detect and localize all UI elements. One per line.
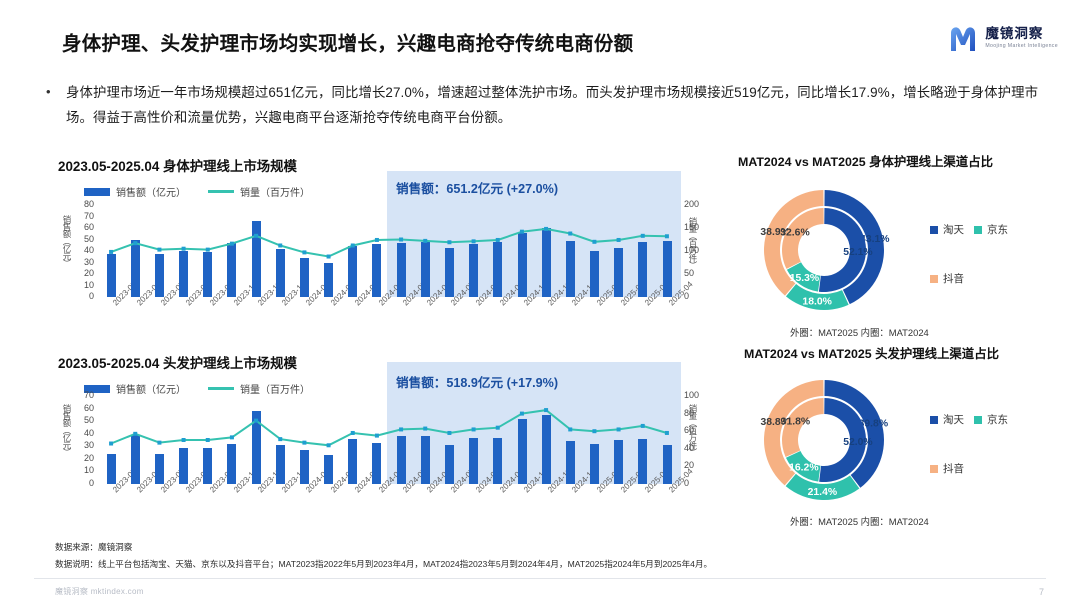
slide: 身体护理、头发护理市场均实现增长，兴趣电商抢夺传统电商份额 魔镜洞察 Mooji… <box>0 0 1080 607</box>
brand-logo: 魔镜洞察 Moojing Market Intelligence <box>948 24 1058 52</box>
line-marker <box>254 419 258 423</box>
line-marker <box>665 431 669 435</box>
plot-hair-care: 销售额（亿元） 销量（百万件） 706050403020100 10080604… <box>58 396 718 526</box>
legend-item-volume: 销量（百万件） <box>208 184 310 199</box>
donut-title: MAT2024 vs MAT2025 头发护理线上渠道占比 <box>744 344 1064 362</box>
line-marker <box>302 441 306 445</box>
line-series <box>99 396 679 484</box>
y-tick-label: 10 <box>72 465 94 475</box>
line-marker <box>496 238 500 242</box>
chart-annotation: 销售额：518.9亿元 (+17.9%) <box>396 372 558 391</box>
donut-hair-care-channel-share: MAT2024 vs MAT2025 头发护理线上渠道占比 <box>744 344 1064 362</box>
legend-label: 京东 <box>987 412 1008 427</box>
legend-label: 抖音 <box>943 271 964 286</box>
legend-bar-swatch <box>84 188 110 196</box>
legend-label: 销售额（亿元） <box>116 184 186 199</box>
y-tick-label: 10 <box>72 280 94 290</box>
line-marker <box>592 240 596 244</box>
donut-note-1: 外圈：MAT2025 内圈：MAT2024 <box>790 325 929 339</box>
line-marker <box>399 238 403 242</box>
slide-header: 身体护理、头发护理市场均实现增长，兴趣电商抢夺传统电商份额 魔镜洞察 Mooji… <box>0 0 1080 70</box>
donut-title: MAT2024 vs MAT2025 身体护理线上渠道占比 <box>738 152 1058 170</box>
line-marker <box>133 432 137 436</box>
line-marker <box>109 250 113 254</box>
line-marker <box>544 408 548 412</box>
legend-item-jingdong: 京东 <box>974 222 1008 237</box>
legend-item-douyin: 抖音 <box>930 271 1008 286</box>
line-marker <box>399 427 403 431</box>
line-marker <box>568 232 572 236</box>
y2-tick-label: 200 <box>684 199 699 209</box>
line-marker <box>423 239 427 243</box>
donut-legend-1: 淘天 京东 抖音 <box>930 222 1008 286</box>
legend-swatch-jingdong <box>974 226 982 234</box>
line-marker <box>230 242 234 246</box>
logo-m-icon <box>948 24 978 52</box>
line-marker <box>568 427 572 431</box>
y-tick-label: 50 <box>72 234 94 244</box>
donut-segment-label: 21.4% <box>808 487 837 498</box>
y2-tick-label: 40 <box>684 443 694 453</box>
y-tick-label: 20 <box>72 268 94 278</box>
donut-segment-label: 15.3% <box>790 273 819 284</box>
y-tick-label: 60 <box>72 222 94 232</box>
line-path <box>111 229 667 257</box>
line-marker <box>230 435 234 439</box>
y-tick-label: 30 <box>72 440 94 450</box>
summary-bullet: • 身体护理市场近一年市场规模超过651亿元，同比增长27.0%，增速超过整体洗… <box>46 80 1041 130</box>
line-marker <box>327 255 331 259</box>
page-title: 身体护理、头发护理市场均实现增长，兴趣电商抢夺传统电商份额 <box>62 27 633 56</box>
logo-name-en: Moojing Market Intelligence <box>985 44 1058 49</box>
legend-swatch-jingdong <box>974 416 982 424</box>
line-series <box>99 205 679 297</box>
line-marker <box>592 429 596 433</box>
y2-tick-label: 100 <box>684 245 699 255</box>
legend-item-douyin: 抖音 <box>930 461 1008 476</box>
legend-swatch-douyin <box>930 275 938 283</box>
line-marker <box>617 427 621 431</box>
line-marker <box>617 238 621 242</box>
line-marker <box>302 250 306 254</box>
footer-divider <box>34 578 1046 579</box>
legend-item-volume: 销量（百万件） <box>208 381 310 396</box>
y2-tick-label: 100 <box>684 390 699 400</box>
legend-line-swatch <box>208 387 234 390</box>
line-marker <box>520 412 524 416</box>
line-marker <box>447 240 451 244</box>
line-marker <box>375 238 379 242</box>
line-marker <box>520 230 524 234</box>
line-marker <box>278 437 282 441</box>
donut-segment-label: 18.0% <box>802 297 831 308</box>
line-marker <box>109 442 113 446</box>
legend-label: 京东 <box>987 222 1008 237</box>
donut-note-2: 外圈：MAT2025 内圈：MAT2024 <box>790 514 929 528</box>
y-axis-title-left: 销售额（亿元） <box>62 215 71 287</box>
line-marker <box>544 227 548 231</box>
line-marker <box>182 247 186 251</box>
line-marker <box>641 234 645 238</box>
legend-label: 销量（百万件） <box>240 381 310 396</box>
donut-segment-label: 52.0% <box>843 437 872 448</box>
chart-annotation: 销售额：651.2亿元 (+27.0%) <box>396 178 558 197</box>
legend-swatch-taotian <box>930 226 938 234</box>
y2-tick-label: 150 <box>684 222 699 232</box>
line-marker <box>472 239 476 243</box>
line-marker <box>496 426 500 430</box>
line-marker <box>133 241 137 245</box>
line-marker <box>351 431 355 435</box>
donut-segment-label: 52.1% <box>843 247 872 258</box>
line-marker <box>665 234 669 238</box>
legend-row-top: 淘天 京东 <box>930 222 1008 237</box>
legend-label: 抖音 <box>943 461 964 476</box>
line-marker <box>375 434 379 438</box>
legend-item-taotian: 淘天 <box>930 222 964 237</box>
line-marker <box>423 427 427 431</box>
donut-segment-label: 32.6% <box>780 227 809 238</box>
donut-segment-label: 16.2% <box>789 462 818 473</box>
y-tick-label: 60 <box>72 403 94 413</box>
y-tick-label: 0 <box>72 478 94 488</box>
y-tick-label: 30 <box>72 257 94 267</box>
line-marker <box>182 438 186 442</box>
line-marker <box>327 443 331 447</box>
donut-legend-2: 淘天 京东 抖音 <box>930 412 1008 476</box>
line-marker <box>472 427 476 431</box>
legend-item-sales: 销售额（亿元） <box>84 184 186 199</box>
line-marker <box>206 438 210 442</box>
y-tick-label: 40 <box>72 245 94 255</box>
y2-tick-label: 50 <box>684 268 694 278</box>
data-note: 数据说明：线上平台包括淘宝、天猫、京东以及抖音平台；MAT2023指2022年5… <box>55 558 712 570</box>
page-number: 7 <box>1039 587 1044 597</box>
line-marker <box>254 234 258 238</box>
legend-label: 销售额（亿元） <box>116 381 186 396</box>
line-marker <box>641 424 645 428</box>
line-marker <box>206 248 210 252</box>
watermark: 魔镜洞察 mktindex.com <box>55 586 144 597</box>
donut-body-care-channel-share: MAT2024 vs MAT2025 身体护理线上渠道占比 <box>738 152 1058 170</box>
y-tick-label: 50 <box>72 415 94 425</box>
legend-item-jingdong: 京东 <box>974 412 1008 427</box>
legend-label: 淘天 <box>943 412 964 427</box>
bullet-marker: • <box>46 80 56 130</box>
y-tick-label: 20 <box>72 453 94 463</box>
donut-segment-label: 31.8% <box>781 417 810 428</box>
legend-line-swatch <box>208 190 234 193</box>
legend-swatch-taotian <box>930 416 938 424</box>
line-marker <box>157 441 161 445</box>
logo-name-cn: 魔镜洞察 <box>985 27 1058 41</box>
bullet-text: 身体护理市场近一年市场规模超过651亿元，同比增长27.0%，增速超过整体洗护市… <box>66 80 1041 130</box>
line-marker <box>157 248 161 252</box>
legend-label: 淘天 <box>943 222 964 237</box>
y-tick-label: 70 <box>72 390 94 400</box>
y-tick-label: 0 <box>72 291 94 301</box>
line-marker <box>447 431 451 435</box>
y-tick-label: 40 <box>72 428 94 438</box>
line-path <box>111 410 667 445</box>
legend-label: 销量（百万件） <box>240 184 310 199</box>
legend-row-top: 淘天 京东 <box>930 412 1008 427</box>
y-tick-label: 80 <box>72 199 94 209</box>
y-tick-label: 70 <box>72 211 94 221</box>
plot-body-care: 销售额（亿元） 销量（百万件） 80706050403020100 200150… <box>58 205 718 345</box>
legend-item-taotian: 淘天 <box>930 412 964 427</box>
y2-tick-label: 60 <box>684 425 694 435</box>
line-marker <box>278 243 282 247</box>
y-axis-title-left: 销售额（亿元） <box>62 404 71 474</box>
line-marker <box>351 243 355 247</box>
data-source: 数据来源：魔镜洞察 <box>55 541 132 553</box>
y2-tick-label: 80 <box>684 408 694 418</box>
legend-swatch-douyin <box>930 465 938 473</box>
legend-item-sales: 销售额（亿元） <box>84 381 186 396</box>
